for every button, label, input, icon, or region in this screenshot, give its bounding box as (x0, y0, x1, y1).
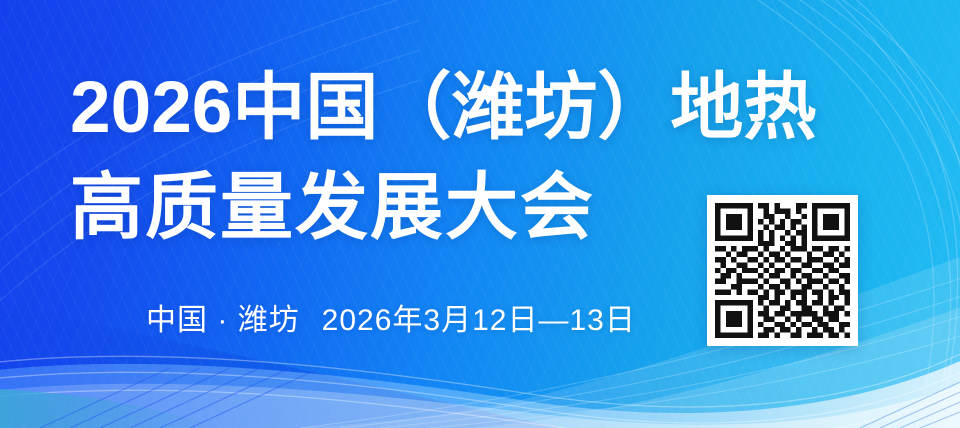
title-line-1: 2026中国（潍坊）地热 (70, 58, 816, 158)
event-banner: 2026中国（潍坊）地热 高质量发展大会 中国 · 潍坊2026年3月12日—1… (0, 0, 960, 428)
qr-code-icon[interactable] (715, 203, 850, 338)
qr-code-card[interactable] (707, 195, 858, 346)
title-line-2: 高质量发展大会 (70, 158, 816, 258)
subtitle-location: 中国 · 潍坊 (146, 304, 300, 337)
banner-content: 2026中国（潍坊）地热 高质量发展大会 中国 · 潍坊2026年3月12日—1… (0, 0, 960, 428)
subtitle-dates: 2026年3月12日—13日 (322, 304, 636, 337)
banner-subtitle: 中国 · 潍坊2026年3月12日—13日 (146, 301, 636, 341)
banner-title: 2026中国（潍坊）地热 高质量发展大会 (70, 58, 816, 258)
